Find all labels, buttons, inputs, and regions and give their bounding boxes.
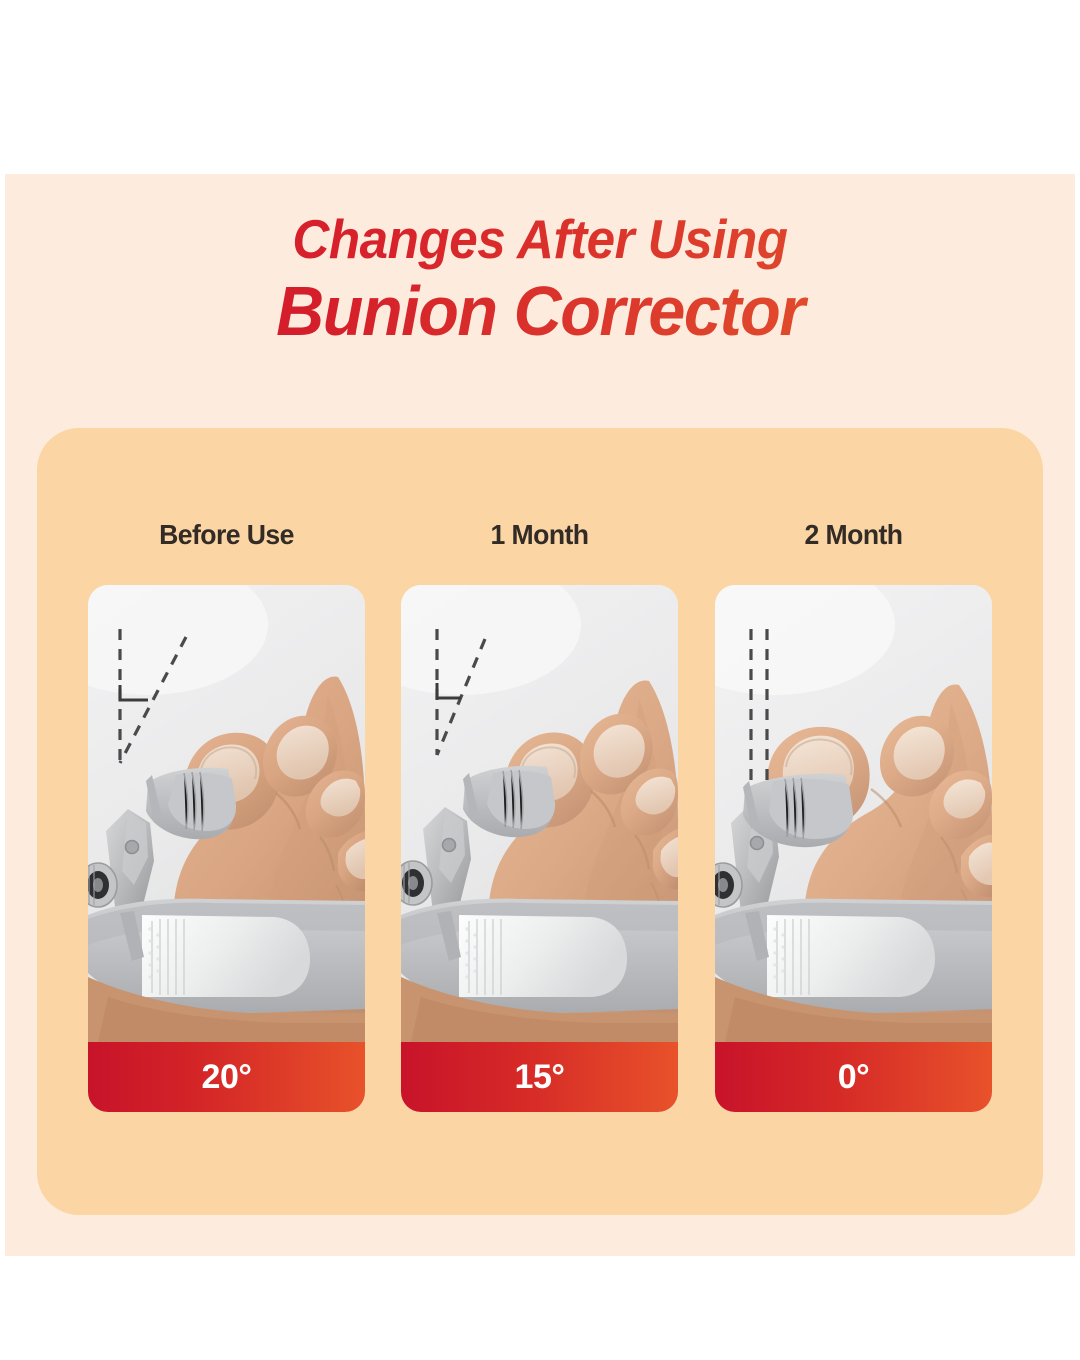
comparison-card-list: 20°	[0, 0, 1080, 1360]
infographic-page: Changes After Using Bunion Corrector Bef…	[0, 0, 1080, 1360]
angle-badge-1-month: 15°	[401, 1042, 678, 1112]
foot-photo-before-use	[88, 585, 365, 1042]
angle-badge-before-use: 20°	[88, 1042, 365, 1112]
foot-photo-1-month	[401, 585, 678, 1042]
comparison-card-before-use: 20°	[88, 585, 365, 1112]
comparison-card-1-month: 15°	[401, 585, 678, 1112]
comparison-card-2-month: 0°	[715, 585, 992, 1112]
angle-badge-2-month: 0°	[715, 1042, 992, 1112]
foot-photo-2-month	[715, 585, 992, 1042]
